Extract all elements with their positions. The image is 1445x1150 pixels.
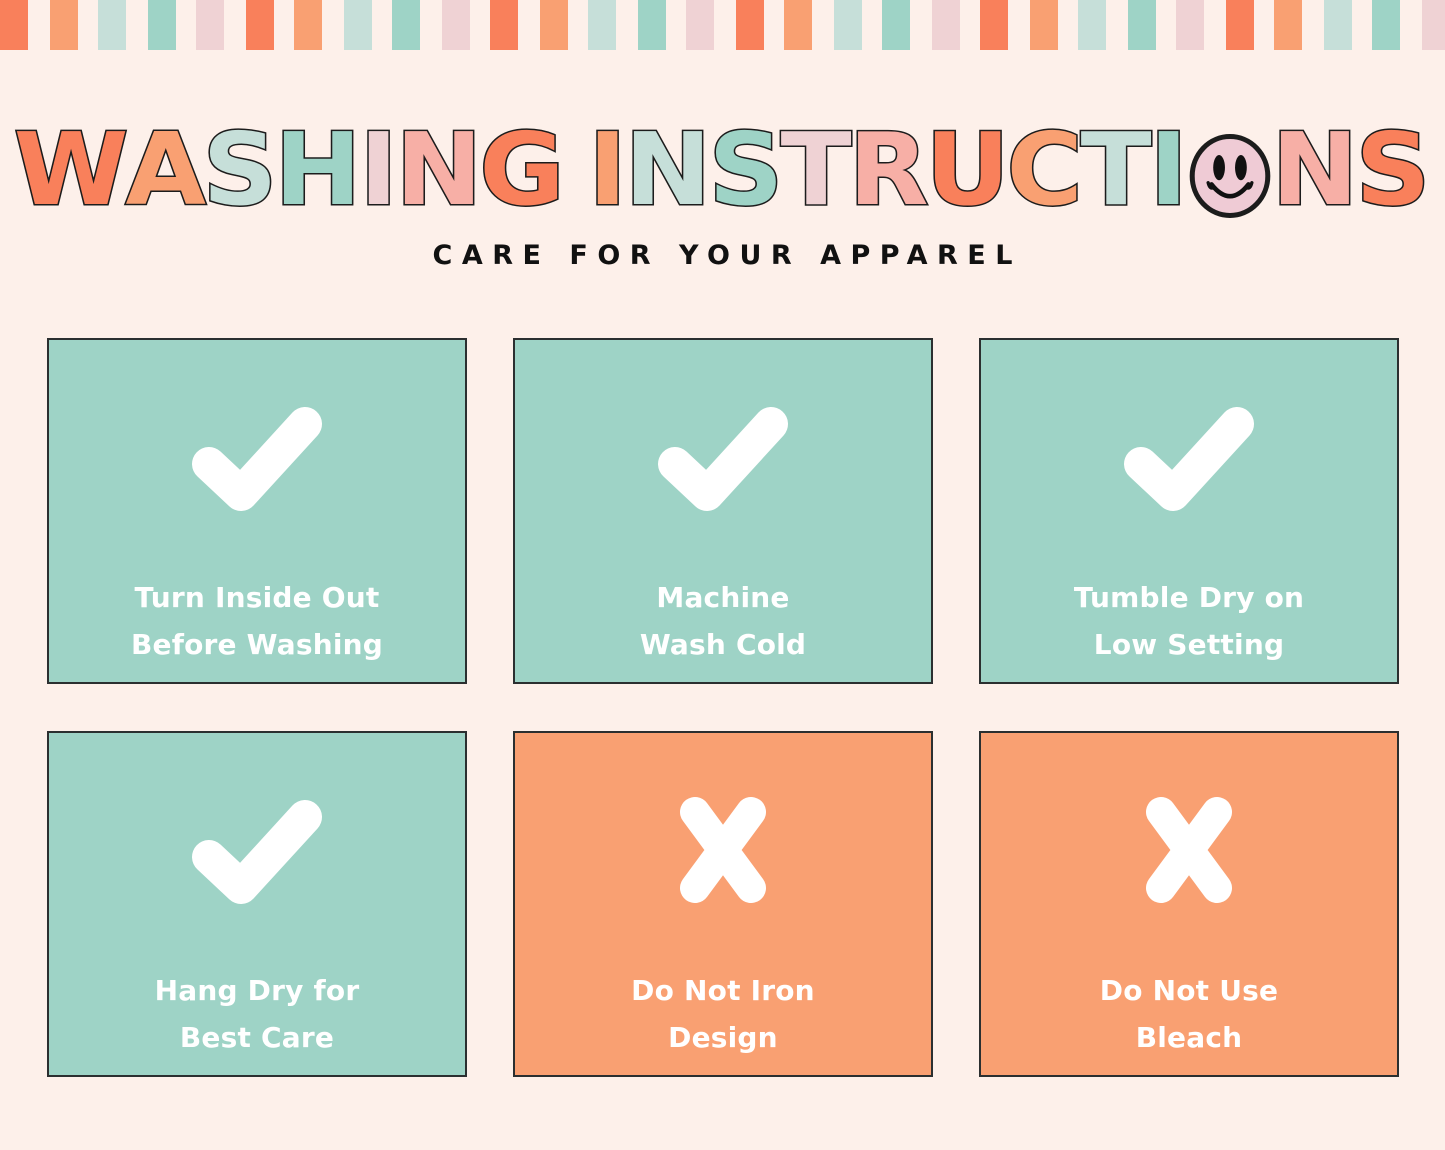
stripe-segment xyxy=(1352,0,1372,50)
stripe-segment xyxy=(1078,0,1106,50)
decorative-stripe-band xyxy=(0,0,1445,50)
title-letter-t-15: T xyxy=(1080,118,1151,222)
stripe-segment xyxy=(1176,0,1204,50)
title-letter-c-14: C xyxy=(1007,118,1083,222)
care-card-label-line2: Wash Cold xyxy=(640,621,806,668)
stripe-segment xyxy=(98,0,126,50)
stripe-segment xyxy=(588,0,616,50)
stripe-segment xyxy=(176,0,196,50)
stripe-segment xyxy=(812,0,834,50)
care-card-label: MachineWash Cold xyxy=(640,574,806,668)
stripe-segment xyxy=(392,0,420,50)
care-card-label: Turn Inside OutBefore Washing xyxy=(131,574,383,668)
stripe-segment xyxy=(1400,0,1422,50)
stripe-segment xyxy=(420,0,442,50)
stripe-segment xyxy=(344,0,372,50)
stripe-segment xyxy=(686,0,714,50)
stripe-segment xyxy=(1008,0,1030,50)
care-card-label-line1: Tumble Dry on xyxy=(1074,574,1304,621)
check-icon xyxy=(187,795,327,905)
stripe-segment xyxy=(834,0,862,50)
stripe-segment xyxy=(294,0,322,50)
stripe-segment xyxy=(274,0,294,50)
title-letter-i-8: I xyxy=(588,118,627,222)
care-card-6: Do Not UseBleach xyxy=(979,731,1399,1077)
care-instruction-grid: Turn Inside OutBefore WashingMachineWash… xyxy=(47,338,1399,1077)
stripe-segment xyxy=(1226,0,1254,50)
care-card-label-line1: Machine xyxy=(640,574,806,621)
stripe-segment xyxy=(1302,0,1324,50)
title-letter-t-11: T xyxy=(780,118,851,222)
stripe-segment xyxy=(714,0,736,50)
page-subtitle: CARE FOR YOUR APPAREL xyxy=(0,240,1445,271)
stripe-segment xyxy=(540,0,568,50)
title-letter-a-1: A xyxy=(125,118,206,222)
stripe-segment xyxy=(0,0,28,50)
care-card-label-line1: Turn Inside Out xyxy=(131,574,383,621)
stripe-segment xyxy=(638,0,666,50)
stripe-segment xyxy=(910,0,932,50)
stripe-segment xyxy=(1274,0,1302,50)
stripe-segment xyxy=(28,0,50,50)
care-card-label-line2: Best Care xyxy=(155,1014,360,1061)
stripe-segment xyxy=(148,0,176,50)
stripe-segment xyxy=(490,0,518,50)
stripe-segment xyxy=(666,0,686,50)
care-card-label: Do Not IronDesign xyxy=(631,967,815,1061)
stripe-segment xyxy=(1422,0,1445,50)
check-icon xyxy=(187,402,327,512)
title-letter-g-6: G xyxy=(479,118,564,222)
care-card-3: Tumble Dry onLow Setting xyxy=(979,338,1399,684)
check-icon xyxy=(1119,402,1259,512)
title-letter-s-19: S xyxy=(1355,118,1430,222)
care-card-label-line2: Design xyxy=(631,1014,815,1061)
stripe-segment xyxy=(1254,0,1274,50)
care-card-label: Hang Dry forBest Care xyxy=(155,967,360,1061)
smiley-face-icon xyxy=(1188,134,1272,218)
care-card-label-line1: Hang Dry for xyxy=(155,967,360,1014)
title-letter-w-0: W xyxy=(14,118,129,222)
stripe-segment xyxy=(1106,0,1128,50)
care-card-label-line2: Low Setting xyxy=(1074,621,1304,668)
stripe-segment xyxy=(1324,0,1352,50)
stripe-segment xyxy=(126,0,148,50)
care-card-2: MachineWash Cold xyxy=(513,338,933,684)
stripe-segment xyxy=(1372,0,1400,50)
page-title: WASHINGINSTRUCTINS xyxy=(16,118,1428,224)
cross-icon xyxy=(653,795,793,905)
stripe-segment xyxy=(862,0,882,50)
stripe-segment xyxy=(980,0,1008,50)
care-card-label-line2: Before Washing xyxy=(131,621,383,668)
care-card-label-line1: Do Not Use xyxy=(1100,967,1278,1014)
stripe-segment xyxy=(1128,0,1156,50)
care-card-label: Tumble Dry onLow Setting xyxy=(1074,574,1304,668)
title-letter-n-18: N xyxy=(1271,118,1358,222)
stripe-segment xyxy=(616,0,638,50)
stripe-segment xyxy=(322,0,344,50)
cross-icon xyxy=(1119,795,1259,905)
stripe-segment xyxy=(1058,0,1078,50)
header-block: WASHINGINSTRUCTINS CARE FOR YOUR APPAREL xyxy=(0,118,1445,271)
stripe-segment xyxy=(196,0,224,50)
stripe-segment xyxy=(960,0,980,50)
title-letter-i-16: I xyxy=(1149,118,1188,222)
care-card-4: Hang Dry forBest Care xyxy=(47,731,467,1077)
title-letter-n-5: N xyxy=(395,118,482,222)
stripe-segment xyxy=(784,0,812,50)
care-card-label-line2: Bleach xyxy=(1100,1014,1278,1061)
stripe-segment xyxy=(736,0,764,50)
title-letter-i-4: I xyxy=(359,118,398,222)
stripe-segment xyxy=(470,0,490,50)
stripe-segment xyxy=(568,0,588,50)
stripe-segment xyxy=(50,0,78,50)
stripe-segment xyxy=(1030,0,1058,50)
stripe-segment xyxy=(518,0,540,50)
care-card-1: Turn Inside OutBefore Washing xyxy=(47,338,467,684)
stripe-segment xyxy=(764,0,784,50)
title-letter-u-13: U xyxy=(925,118,1009,222)
care-card-label: Do Not UseBleach xyxy=(1100,967,1278,1061)
stripe-segment xyxy=(246,0,274,50)
care-card-5: Do Not IronDesign xyxy=(513,731,933,1077)
stripe-segment xyxy=(442,0,470,50)
check-icon xyxy=(653,402,793,512)
stripe-segment xyxy=(1156,0,1176,50)
title-letter-n-9: N xyxy=(624,118,711,222)
stripe-segment xyxy=(372,0,392,50)
stripe-segment xyxy=(224,0,246,50)
title-letter-h-3: H xyxy=(274,118,361,222)
care-card-label-line1: Do Not Iron xyxy=(631,967,815,1014)
stripe-segment xyxy=(932,0,960,50)
title-letter-s-2: S xyxy=(203,118,278,222)
stripe-segment xyxy=(78,0,98,50)
title-letter-r-12: R xyxy=(848,118,928,222)
title-letter-s-10: S xyxy=(708,118,783,222)
stripe-segment xyxy=(1204,0,1226,50)
stripe-segment xyxy=(882,0,910,50)
